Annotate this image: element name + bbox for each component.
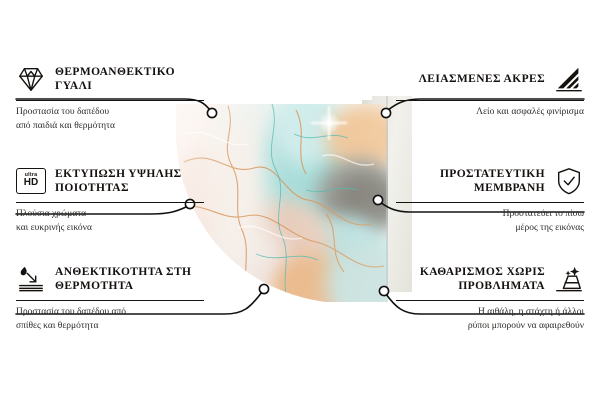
feature-rule xyxy=(396,300,584,301)
feature-subtitle-line1: Προστασία του δαπέδου xyxy=(16,106,204,120)
glass-panel xyxy=(176,104,388,302)
product-image xyxy=(176,96,408,316)
ultra-hd-icon: ultra HD xyxy=(16,168,46,194)
flame-deflect-icon xyxy=(16,264,46,294)
marble-artwork xyxy=(176,104,388,302)
feature-header: ΠΡΟΣΤΑΤΕΥΤΙΚΗ ΜΕΜΒΡΑΝΗ xyxy=(396,164,584,198)
feature-heat-durability[interactable]: ΑΝΘΕΚΤΙΚΟΤΗΤΑ ΣΤΗ ΘΕΡΜΟΤΗΤΑ Προστασία το… xyxy=(16,262,204,334)
diamond-icon xyxy=(16,64,46,94)
feature-subtitle-line1: Προστασία του δαπέδου από xyxy=(16,306,204,320)
feature-title: ΚΑΘΑΡΙΣΜΟΣ ΧΩΡΙΣ ΠΡΟΒΛΗΜΑΤΑ xyxy=(396,265,545,294)
feature-subtitle-line1: Λείο και ασφαλές φινίρισμα xyxy=(396,106,584,120)
feature-subtitle: Πλούσια χρώματα και ευκρινής εικόνα xyxy=(16,208,204,236)
feature-subtitle: Προστατεύει το πίσω μέρος της εικόνας xyxy=(396,208,584,236)
feature-rule xyxy=(396,100,584,101)
feature-header: ΑΝΘΕΚΤΙΚΟΤΗΤΑ ΣΤΗ ΘΕΡΜΟΤΗΤΑ xyxy=(16,262,204,296)
feature-rule xyxy=(16,100,204,101)
feature-subtitle-line2: μέρος της εικόνας xyxy=(396,222,584,236)
sparkle-clean-icon xyxy=(554,264,584,294)
feature-rule xyxy=(16,202,204,203)
feature-title: ΠΡΟΣΤΑΤΕΥΤΙΚΗ ΜΕΜΒΡΑΝΗ xyxy=(396,167,545,196)
feature-rule xyxy=(396,202,584,203)
feature-subtitle: Η αιθάλη, η στάχτη ή άλλοι ρύποι μπορούν… xyxy=(396,306,584,334)
feature-title: ΘΕΡΜΟΑΝΘΕΚΤΙΚΟ ΓΥΑΛΙ xyxy=(55,65,204,94)
ultra-hd-icon-bottom: HD xyxy=(24,178,38,189)
feature-subtitle: Λείο και ασφαλές φινίρισμα xyxy=(396,106,584,120)
feature-title: ΛΕΙΑΣΜΕΝΕΣ ΑΚΡΕΣ xyxy=(419,72,545,86)
feature-title: ΑΝΘΕΚΤΙΚΟΤΗΤΑ ΣΤΗ ΘΕΡΜΟΤΗΤΑ xyxy=(55,265,204,294)
feature-subtitle-line2: σπίθες και θερμότητα xyxy=(16,320,204,334)
polished-edges-icon xyxy=(554,64,584,94)
feature-rule xyxy=(16,300,204,301)
feature-header: ultra HD ΕΚΤΥΠΩΣΗ ΥΨΗΛΗΣ ΠΟΙΟΤΗΤΑΣ xyxy=(16,164,204,198)
feature-subtitle-line1: Προστατεύει το πίσω xyxy=(396,208,584,222)
feature-heat-resistant-glass[interactable]: ΘΕΡΜΟΑΝΘΕΚΤΙΚΟ ΓΥΑΛΙ Προστασία του δαπέδ… xyxy=(16,62,204,134)
feature-subtitle: Προστασία του δαπέδου από σπίθες και θερ… xyxy=(16,306,204,334)
feature-protective-membrane[interactable]: ΠΡΟΣΤΑΤΕΥΤΙΚΗ ΜΕΜΒΡΑΝΗ Προστατεύει το πί… xyxy=(396,164,584,236)
glass-glint-icon xyxy=(316,110,342,136)
feature-easy-cleaning[interactable]: ΚΑΘΑΡΙΣΜΟΣ ΧΩΡΙΣ ΠΡΟΒΛΗΜΑΤΑ Η αιθάλη, η … xyxy=(396,262,584,334)
feature-subtitle-line2: και ευκρινής εικόνα xyxy=(16,222,204,236)
feature-subtitle: Προστασία του δαπέδου από παιδιά και θερ… xyxy=(16,106,204,134)
feature-title: ΕΚΤΥΠΩΣΗ ΥΨΗΛΗΣ ΠΟΙΟΤΗΤΑΣ xyxy=(55,167,204,196)
feature-high-quality-print[interactable]: ultra HD ΕΚΤΥΠΩΣΗ ΥΨΗΛΗΣ ΠΟΙΟΤΗΤΑΣ Πλούσ… xyxy=(16,164,204,236)
feature-header: ΛΕΙΑΣΜΕΝΕΣ ΑΚΡΕΣ xyxy=(396,62,584,96)
feature-polished-edges[interactable]: ΛΕΙΑΣΜΕΝΕΣ ΑΚΡΕΣ Λείο και ασφαλές φινίρι… xyxy=(396,62,584,120)
infographic-stage: ΘΕΡΜΟΑΝΘΕΚΤΙΚΟ ΓΥΑΛΙ Προστασία του δαπέδ… xyxy=(0,0,600,400)
feature-subtitle-line1: Πλούσια χρώματα xyxy=(16,208,204,222)
feature-subtitle-line1: Η αιθάλη, η στάχτη ή άλλοι xyxy=(396,306,584,320)
marble-veins xyxy=(176,104,388,302)
shield-check-icon xyxy=(554,166,584,196)
feature-header: ΚΑΘΑΡΙΣΜΟΣ ΧΩΡΙΣ ΠΡΟΒΛΗΜΑΤΑ xyxy=(396,262,584,296)
feature-subtitle-line2: από παιδιά και θερμότητα xyxy=(16,120,204,134)
feature-header: ΘΕΡΜΟΑΝΘΕΚΤΙΚΟ ΓΥΑΛΙ xyxy=(16,62,204,96)
feature-subtitle-line2: ρύποι μπορούν να αφαιρεθούν xyxy=(396,320,584,334)
